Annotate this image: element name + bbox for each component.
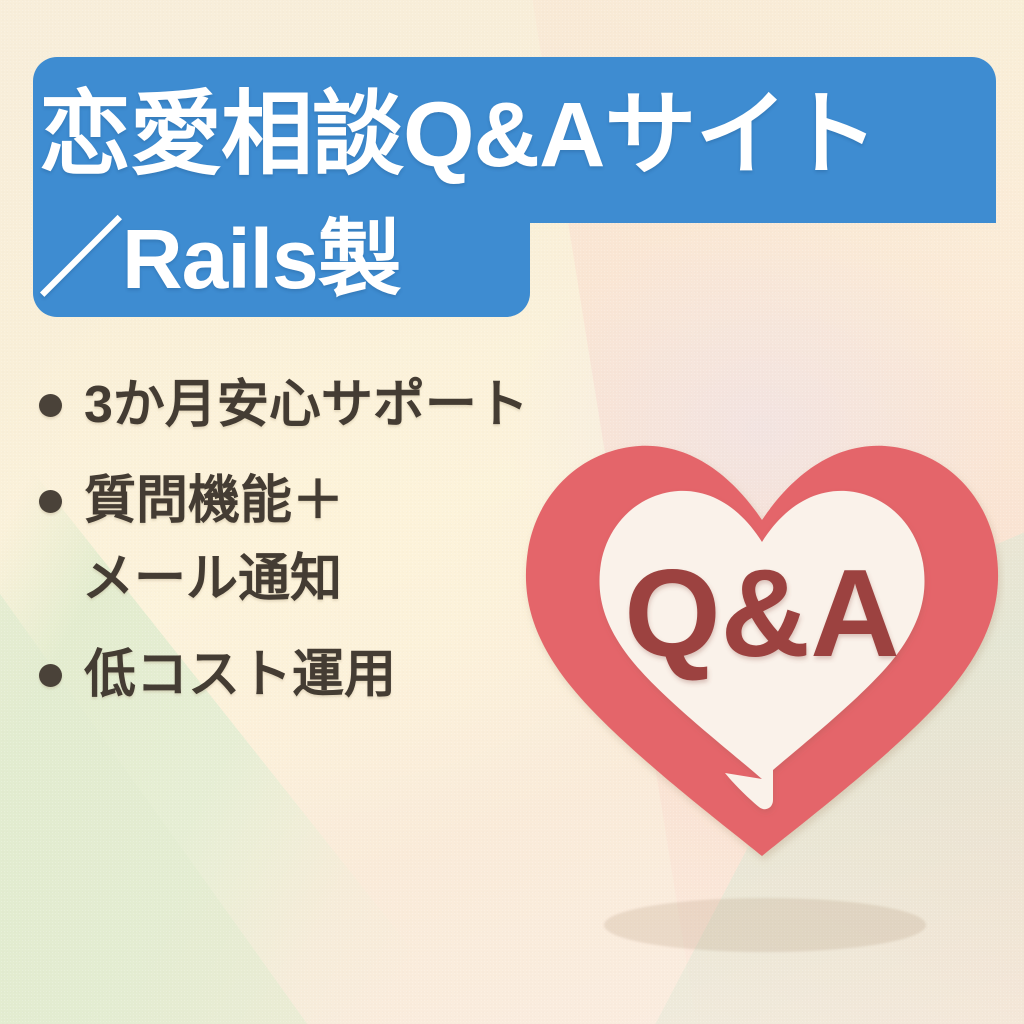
page-title-line-2: ／Rails製 (39, 197, 999, 321)
list-item: 質問機能＋ メール通知 (32, 462, 552, 618)
list-item: 低コスト運用 (32, 636, 552, 714)
feature-list: 3か月安心サポート 質問機能＋ メール通知 低コスト運用 (32, 366, 552, 732)
list-item: 3か月安心サポート (32, 366, 552, 444)
heart-qa-illustration: Q&A (519, 398, 1005, 868)
bullet-dot-icon (39, 664, 62, 687)
bullet-dot-icon (39, 490, 62, 513)
qa-label: Q&A (624, 545, 900, 683)
page-title: 恋愛相談Q&Aサイト ／Rails製 (39, 73, 999, 321)
bullet-dot-icon (39, 394, 62, 417)
feature-text: 質問機能＋ (84, 462, 552, 540)
feature-text-continued: メール通知 (82, 540, 552, 618)
heart-ground-shadow (604, 898, 926, 952)
poster-canvas: Q&A 恋愛相談Q&Aサイト ／Rails製 3か月安心サポート 質問機能＋ メ… (0, 0, 1024, 1024)
feature-text: 3か月安心サポート (84, 366, 552, 444)
page-title-line-1: 恋愛相談Q&Aサイト (39, 73, 999, 197)
feature-text: 低コスト運用 (84, 636, 552, 714)
